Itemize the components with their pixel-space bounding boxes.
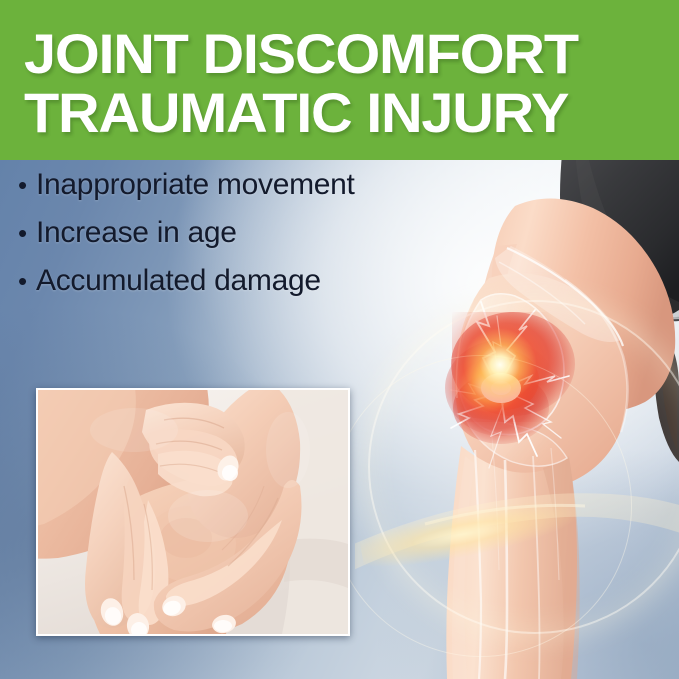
list-item-label: Accumulated damage (36, 266, 321, 296)
header-band: JOINT DISCOMFORT TRAUMATIC INJURY (0, 0, 679, 160)
photo-image (38, 390, 348, 634)
bullet-dot-icon: • (18, 220, 36, 246)
page-title-line-2: TRAUMATIC INJURY (24, 85, 568, 141)
list-item-label: Inappropriate movement (36, 170, 355, 200)
hands-holding-knee-photo (36, 388, 350, 636)
bullet-dot-icon: • (18, 172, 36, 198)
page-title-line-1: JOINT DISCOMFORT (24, 26, 578, 82)
list-item: • Inappropriate movement (18, 170, 488, 218)
list-item: • Accumulated damage (18, 266, 488, 314)
bullet-dot-icon: • (18, 268, 36, 294)
list-item-label: Increase in age (36, 218, 237, 248)
poster-canvas: JOINT DISCOMFORT TRAUMATIC INJURY • Inap… (0, 0, 679, 679)
list-item: • Increase in age (18, 218, 488, 266)
cause-list: • Inappropriate movement • Increase in a… (18, 170, 488, 314)
